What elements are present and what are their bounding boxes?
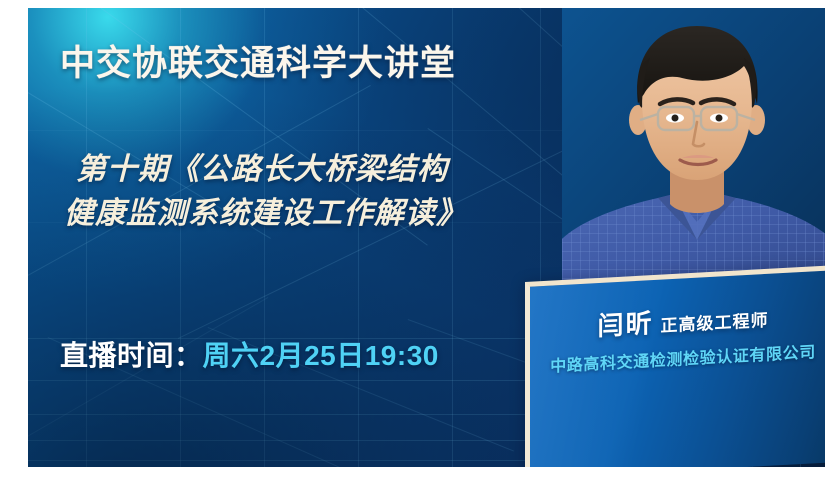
episode-subtitle-line2: 健康监测系统建设工作解读》 [64,192,596,236]
live-event-poster: 中交协联交通科学大讲堂 第十期《公路长大桥梁结构 健康监测系统建设工作解读》 直… [28,8,825,467]
broadcast-time-label: 直播时间： [60,340,203,371]
speaker-portrait [562,8,825,308]
card-sheen [530,269,825,467]
episode-subtitle: 第十期《公路长大桥梁结构 健康监测系统建设工作解读》 [76,148,596,235]
episode-subtitle-line1: 第十期《公路长大桥梁结构 [76,153,448,186]
broadcast-time-row: 直播时间：周六2月25日19:30 [60,334,439,374]
broadcast-time-value: 周六2月25日19:30 [203,340,439,371]
speaker-name-card [525,264,825,467]
poster-stage: 中交协联交通科学大讲堂 第十期《公路长大桥梁结构 健康监测系统建设工作解读》 直… [0,0,840,480]
page-title: 中交协联交通科学大讲堂 [60,35,456,86]
right-white-margin [825,0,840,480]
